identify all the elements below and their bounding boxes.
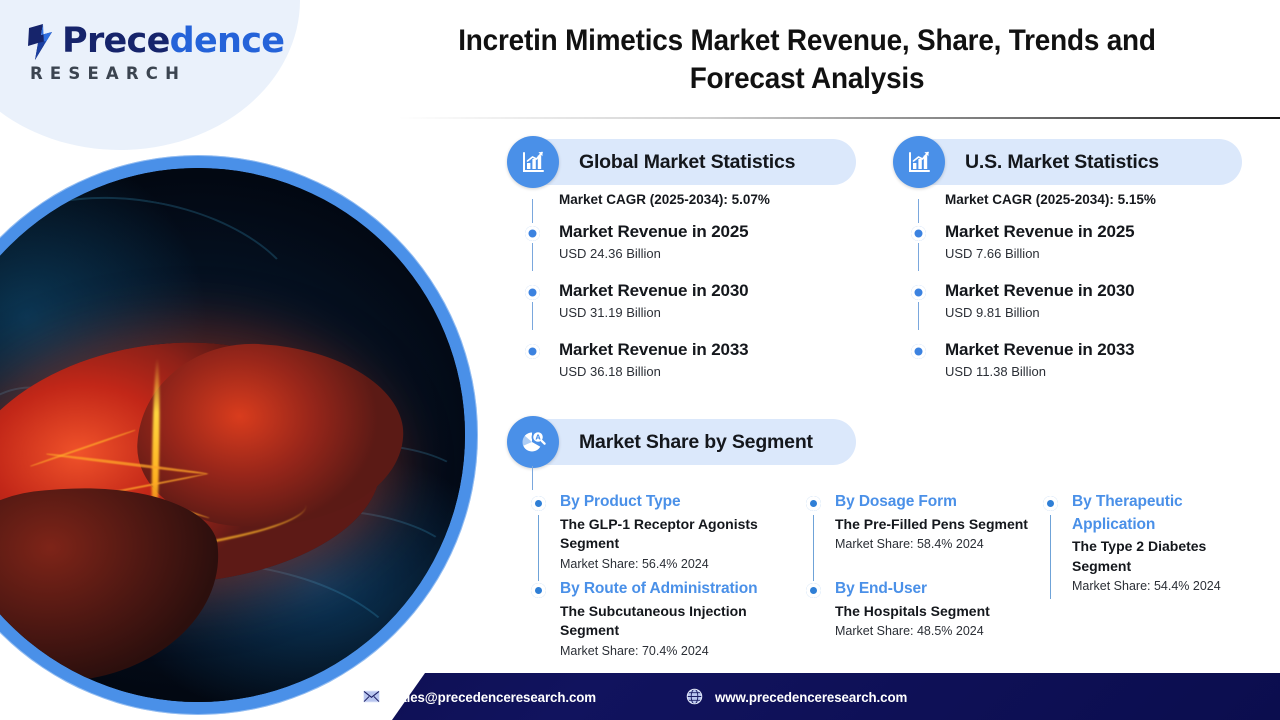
- stat-value: USD 9.81 Billion: [945, 303, 1246, 323]
- bullet-dot-icon: [531, 496, 546, 511]
- bullet-dot-icon: [1043, 496, 1058, 511]
- segment-leader: The Type 2 Diabetes Segment: [1072, 537, 1258, 576]
- stat-item: Market Revenue in 2025 USD 24.36 Billion: [510, 221, 860, 264]
- timeline-connector: [918, 243, 920, 271]
- footer-email-text: sales@precedenceresearch.com: [392, 689, 596, 705]
- bullet-dot-icon: [525, 285, 540, 300]
- bullet-dot-icon: [911, 285, 926, 300]
- timeline-connector: [532, 302, 534, 330]
- segment-category: By End-User: [835, 578, 1031, 601]
- cagr-us: Market CAGR (2025-2034): 5.15%: [945, 192, 1246, 207]
- brand-name-part2: dence: [170, 21, 285, 61]
- stat-label: Market Revenue in 2025: [559, 221, 860, 243]
- bar-chart-growth-icon: [507, 136, 559, 188]
- hero-image-frame: [0, 155, 478, 715]
- stat-item: Market Revenue in 2030 USD 31.19 Billion: [510, 280, 860, 323]
- segment-category: By Dosage Form: [835, 491, 1031, 514]
- stat-item: Market Revenue in 2030 USD 9.81 Billion: [896, 280, 1246, 323]
- envelope-icon: [362, 687, 381, 706]
- stat-item: Market Revenue in 2025 USD 7.66 Billion: [896, 221, 1246, 264]
- brand-subtitle: RESEARCH: [30, 64, 266, 83]
- bullet-dot-icon: [806, 496, 821, 511]
- precedence-logo-mark-icon: [26, 22, 60, 62]
- segment-category: By Route of Administration: [560, 578, 791, 601]
- globe-icon: [685, 687, 704, 706]
- cagr-global: Market CAGR (2025-2034): 5.07%: [559, 192, 860, 207]
- segment-share: Market Share: 48.5% 2024: [835, 622, 1031, 640]
- panel-header-market-share: A Market Share by Segment: [510, 419, 856, 465]
- timeline-connector: [1050, 515, 1052, 599]
- segment-share: Market Share: 54.4% 2024: [1072, 577, 1258, 595]
- segment-share: Market Share: 58.4% 2024: [835, 535, 1031, 553]
- brand-logo[interactable]: Precedence RESEARCH: [26, 22, 266, 83]
- bullet-dot-icon: [806, 583, 821, 598]
- stat-value: USD 7.66 Billion: [945, 244, 1246, 264]
- stat-value: USD 24.36 Billion: [559, 244, 860, 264]
- timeline-connector: [813, 515, 815, 581]
- segment-share: Market Share: 70.4% 2024: [560, 642, 791, 660]
- brand-wordmark: Precedence: [62, 22, 284, 60]
- timeline-connector: [918, 302, 920, 330]
- segment-leader: The Hospitals Segment: [835, 602, 1031, 622]
- timeline-connector: [532, 243, 534, 271]
- hero-image: [0, 168, 465, 702]
- timeline-us: Market CAGR (2025-2034): 5.15% Market Re…: [896, 192, 1246, 382]
- stat-label: Market Revenue in 2033: [559, 339, 860, 361]
- page-title: Incretin Mimetics Market Revenue, Share,…: [417, 22, 1196, 98]
- timeline-connector: [532, 199, 534, 223]
- bullet-dot-icon: [911, 226, 926, 241]
- footer-website-text: www.precedenceresearch.com: [715, 689, 907, 705]
- segment-leader: The Subcutaneous Injection Segment: [560, 602, 791, 641]
- stat-item: Market Revenue in 2033 USD 11.38 Billion: [896, 339, 1246, 382]
- stat-value: USD 11.38 Billion: [945, 362, 1246, 382]
- panel-header-global: Global Market Statistics: [510, 139, 856, 185]
- title-divider: [398, 117, 1280, 119]
- svg-text:A: A: [535, 433, 541, 441]
- segment-by-product-type: By Product Type The GLP-1 Receptor Agoni…: [531, 491, 781, 573]
- stat-item: Market Revenue in 2033 USD 36.18 Billion: [510, 339, 860, 382]
- segment-leader: The Pre-Filled Pens Segment: [835, 515, 1031, 535]
- segment-by-route-of-administration: By Route of Administration The Subcutane…: [531, 578, 791, 660]
- footer-contacts: sales@precedenceresearch.com www.precede…: [0, 673, 1280, 720]
- stat-value: USD 31.19 Billion: [559, 303, 860, 323]
- stat-value: USD 36.18 Billion: [559, 362, 860, 382]
- timeline-global: Market CAGR (2025-2034): 5.07% Market Re…: [510, 192, 860, 382]
- timeline-connector: [918, 199, 920, 223]
- segment-leader: The GLP-1 Receptor Agonists Segment: [560, 515, 781, 554]
- stat-label: Market Revenue in 2025: [945, 221, 1246, 243]
- panel-title-market-share: Market Share by Segment: [579, 431, 813, 454]
- brand-name-part1: Prece: [62, 21, 170, 61]
- bullet-dot-icon: [911, 344, 926, 359]
- panel-title-us: U.S. Market Statistics: [965, 151, 1159, 174]
- bullet-dot-icon: [525, 344, 540, 359]
- segment-share: Market Share: 56.4% 2024: [560, 555, 781, 573]
- panel-header-us: U.S. Market Statistics: [896, 139, 1242, 185]
- timeline-connector: [532, 466, 534, 490]
- segment-by-end-user: By End-User The Hospitals Segment Market…: [806, 578, 1031, 640]
- infographic-page: Precedence RESEARCH Incretin Mimetics Ma…: [0, 0, 1280, 720]
- footer-website[interactable]: www.precedenceresearch.com: [685, 687, 917, 706]
- stat-label: Market Revenue in 2030: [945, 280, 1246, 302]
- footer-email[interactable]: sales@precedenceresearch.com: [362, 687, 607, 706]
- segment-category: By Therapeutic Application: [1072, 491, 1258, 536]
- panel-title-global: Global Market Statistics: [579, 151, 795, 174]
- timeline-connector: [538, 515, 540, 581]
- segment-by-dosage-form: By Dosage Form The Pre-Filled Pens Segme…: [806, 491, 1031, 553]
- bullet-dot-icon: [525, 226, 540, 241]
- bullet-dot-icon: [531, 583, 546, 598]
- stat-label: Market Revenue in 2033: [945, 339, 1246, 361]
- segment-by-therapeutic-application: By Therapeutic Application The Type 2 Di…: [1043, 491, 1258, 595]
- segment-category: By Product Type: [560, 491, 781, 514]
- stat-label: Market Revenue in 2030: [559, 280, 860, 302]
- bar-chart-growth-icon: [893, 136, 945, 188]
- pie-chart-analysis-icon: A: [507, 416, 559, 468]
